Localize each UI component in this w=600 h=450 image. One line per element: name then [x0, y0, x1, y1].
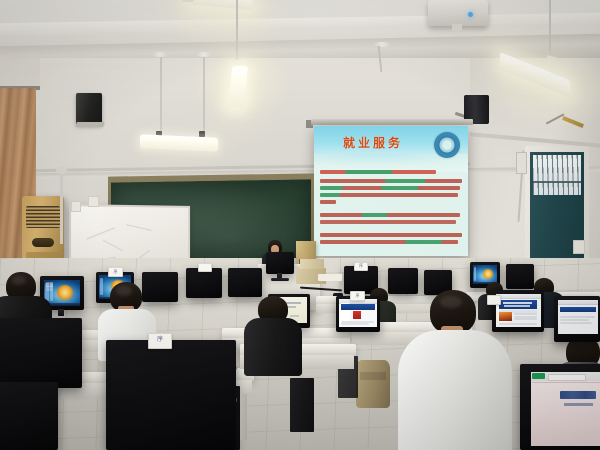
projection-screen-roller — [311, 119, 473, 125]
desk-leg-row4-b — [240, 394, 247, 440]
webpage-banner — [499, 300, 538, 309]
podium-monitor[interactable] — [266, 252, 294, 274]
monitor-label-row1-a: 序 — [354, 262, 368, 271]
wall-speaker-left — [76, 93, 102, 125]
document-divider — [532, 382, 600, 383]
under-desk-computer-tower-2 — [290, 378, 314, 432]
student-p3-hair-highlight — [116, 286, 132, 296]
webpage-row — [499, 323, 538, 325]
wall-outlet — [88, 196, 99, 207]
monitor-label-text: 序 — [351, 294, 364, 298]
student-p6-torso — [398, 330, 512, 450]
monitor-foreground-center[interactable] — [106, 340, 236, 450]
monitor-screen-document[interactable] — [531, 372, 600, 446]
wall-pipe — [60, 170, 63, 244]
wall-thermostat[interactable] — [516, 152, 527, 174]
browser-toolbar[interactable] — [558, 300, 598, 305]
webpage-row — [560, 316, 594, 318]
slide-b2-l2 — [320, 220, 456, 224]
slide-b1-l4 — [320, 200, 336, 204]
student-p7-torso — [244, 318, 302, 376]
monitor-row2-d[interactable] — [186, 268, 222, 298]
taskbar-start-icon[interactable] — [474, 267, 476, 280]
slide-b1-l2 — [320, 186, 460, 190]
monitor-label-row2-d — [198, 263, 212, 272]
document-subtitle-text — [564, 403, 593, 406]
light-cord-3 — [160, 57, 162, 135]
desktop-icon[interactable] — [46, 286, 53, 291]
desk-paper — [318, 274, 342, 281]
slide-text-line — [290, 315, 299, 317]
win7-wallpaper-glow — [483, 269, 493, 279]
student-p5-shadow — [360, 372, 386, 380]
wall-speaker-left-bracket — [75, 122, 104, 127]
monitor-row1-b[interactable] — [388, 268, 418, 294]
air-conditioner-grille — [26, 206, 60, 228]
wall-switch — [71, 201, 81, 212]
ceiling-mount-3a — [152, 52, 168, 57]
light-cord-4 — [549, 0, 551, 60]
monitor-row1-e[interactable] — [506, 264, 534, 289]
banner-text-line — [504, 305, 530, 307]
whiteboard-mark-3 — [126, 224, 151, 231]
light-cap-1 — [182, 0, 194, 2]
whiteboard-mark-1 — [86, 227, 115, 239]
cardboard-box-small — [300, 259, 324, 269]
student-p6-hair-highlight — [440, 296, 462, 308]
ceiling-mount-5 — [374, 42, 390, 47]
monitor-screen-webpage[interactable] — [496, 294, 541, 327]
window-security-bars — [533, 155, 581, 195]
document-address-bar[interactable] — [548, 374, 586, 380]
monitor-label-row2-b: 序 — [108, 267, 123, 277]
window-bar-horizontal — [533, 181, 581, 183]
webpage-row — [341, 323, 369, 325]
webpage-thumbnail-image — [499, 312, 513, 321]
monitor-row2-a-stand — [58, 309, 64, 316]
monitor-label-text: 序 — [109, 270, 122, 274]
document-app-badge — [532, 373, 545, 379]
webpage-red-block — [353, 311, 361, 318]
monitor-label-text: 序 — [149, 337, 171, 343]
curtain-wall-backing — [0, 58, 40, 88]
webpage-row — [514, 313, 537, 315]
whiteboard-mark-2 — [103, 240, 123, 251]
monitor-screen-webpage[interactable] — [339, 299, 377, 327]
webpage-banner — [341, 304, 376, 310]
monitor-foreground-far-left[interactable] — [0, 382, 58, 450]
monitor-label-text: 序 — [355, 264, 367, 268]
ceiling-projector[interactable] — [428, 0, 488, 26]
slide-heading-line — [320, 170, 436, 174]
projector-ceiling-mount — [452, 24, 462, 31]
monitor-row2-e[interactable] — [228, 268, 262, 297]
monitor-row2-c[interactable] — [142, 272, 178, 302]
university-seal-inner-icon — [440, 138, 454, 152]
monitor-screen-webpage[interactable] — [558, 300, 598, 334]
monitor-foreground-left[interactable] — [0, 318, 82, 388]
slide-b1-l3 — [320, 193, 458, 197]
slide-b2-l1 — [320, 213, 460, 217]
wall-socket-right[interactable] — [573, 240, 585, 254]
light-cord-3b — [203, 57, 205, 133]
light-cord-2 — [236, 0, 238, 62]
slide-title: 就业服务 — [314, 134, 432, 151]
air-conditioner-badge — [32, 238, 54, 247]
student-p2-hair-highlight — [12, 276, 26, 285]
projection-screen: 就业服务 — [314, 126, 468, 256]
webpage-row — [560, 319, 589, 321]
taskbar-start-icon[interactable] — [100, 278, 103, 295]
monitor-label-row3-a: 序 — [350, 291, 365, 301]
student-p5-torso — [356, 360, 390, 408]
ceiling-mount-3b — [196, 52, 212, 57]
wall-pipe-cap — [56, 166, 67, 174]
slide-body — [320, 170, 464, 254]
slide-b3-l2 — [320, 240, 458, 244]
win7-wallpaper-glow — [57, 285, 73, 300]
podium-monitor-base — [271, 278, 289, 281]
monitor-label-row3-b — [487, 295, 501, 305]
monitor-label-foreground: 序 — [148, 333, 172, 349]
webpage-banner — [560, 307, 595, 312]
banner-text-line — [503, 302, 532, 304]
projector-power-led — [468, 12, 473, 17]
document-title-text — [560, 391, 596, 399]
slide-b3-l1 — [320, 233, 462, 237]
webpage-row — [514, 318, 537, 320]
slide-b1-l1 — [320, 179, 462, 183]
classroom-photo-scene: 就业服务 — [0, 0, 600, 450]
webpage-row — [560, 322, 592, 324]
